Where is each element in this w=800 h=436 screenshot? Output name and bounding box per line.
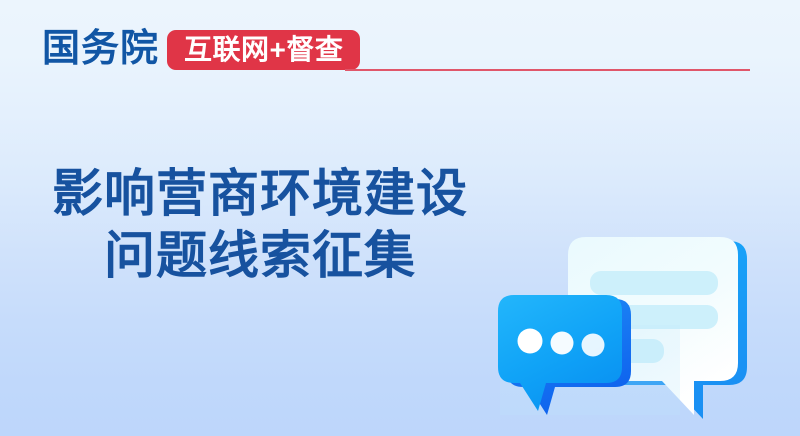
back-bubble-text-line-1 (590, 271, 718, 295)
agency-name: 国务院 (42, 26, 159, 72)
promo-banner: 国务院 互联网+督查 影响营商环境建设 问题线索征集 (0, 0, 800, 436)
page-title-line-1: 影响营商环境建设 (0, 163, 520, 225)
banner-header: 国务院 互联网+督查 (0, 0, 800, 96)
program-badge-label: 互联网+督查 (184, 35, 343, 65)
typing-dot-2 (551, 332, 574, 355)
chat-bubbles-illustration (480, 215, 800, 436)
header-divider-rule (345, 69, 750, 71)
typing-dot-3 (582, 334, 605, 357)
chat-bubbles-icon (480, 215, 800, 436)
page-title: 影响营商环境建设 问题线索征集 (0, 163, 520, 287)
typing-dot-1 (518, 329, 543, 354)
program-badge: 互联网+督查 (167, 30, 360, 70)
page-title-line-2: 问题线索征集 (0, 225, 520, 287)
